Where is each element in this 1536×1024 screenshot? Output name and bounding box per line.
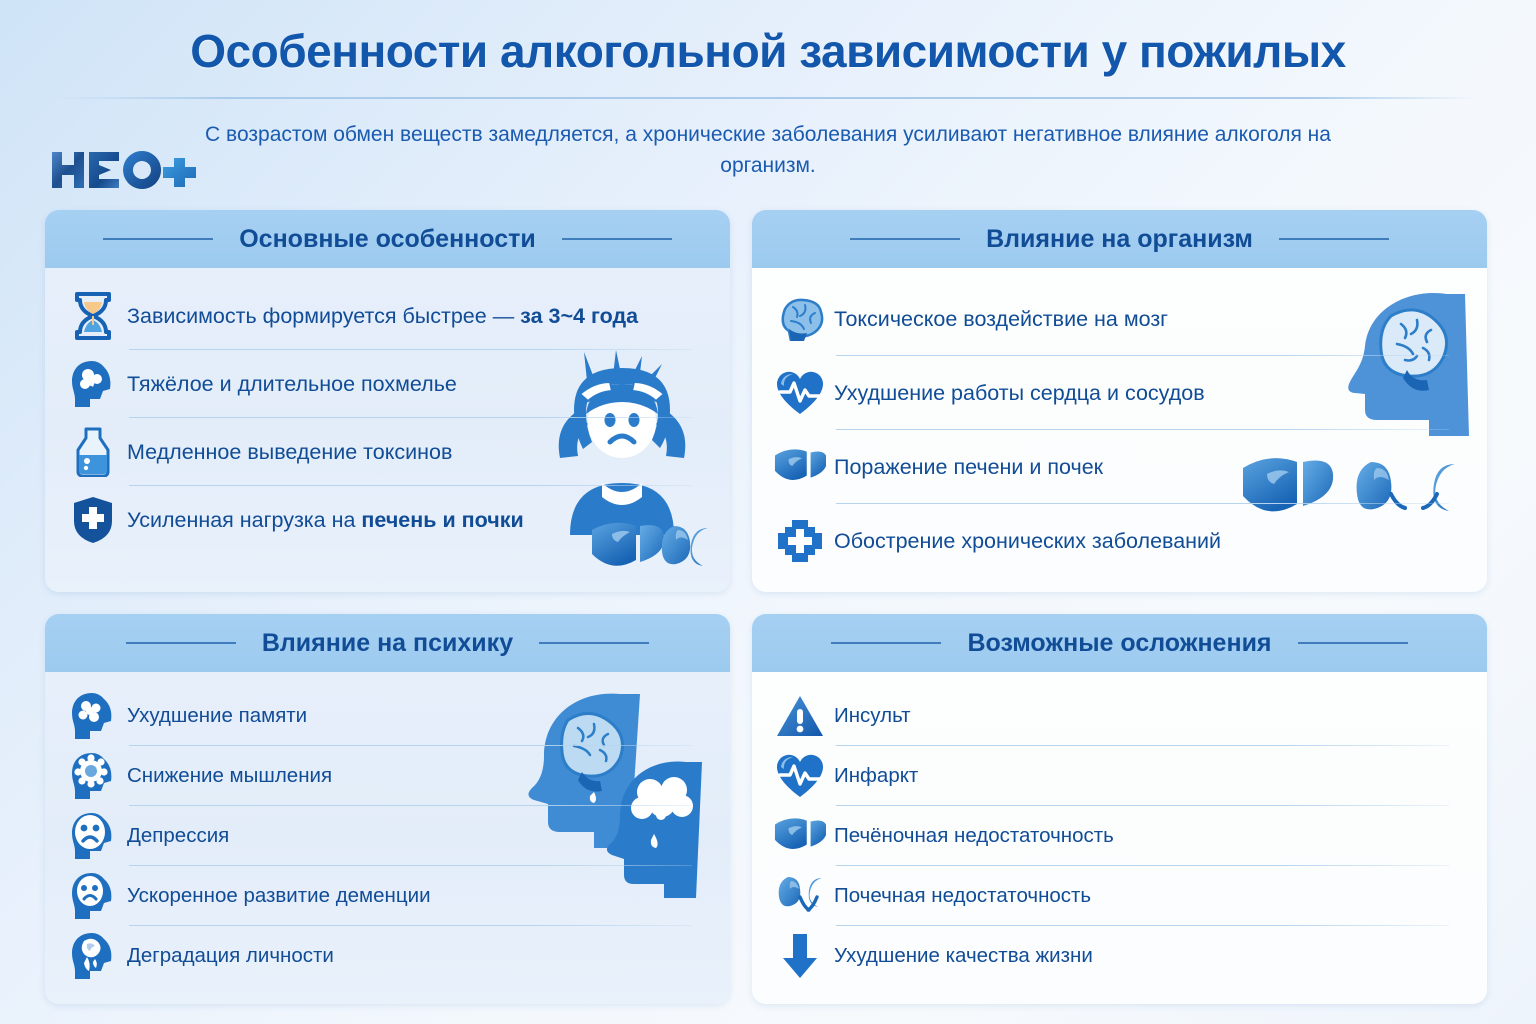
page-subtitle: С возрастом обмен веществ замедляется, а… [188, 119, 1348, 182]
card-vliyanie-na-organizm: Влияние на организм [752, 210, 1487, 592]
list-item-label: Печёночная недостаточность [834, 824, 1114, 848]
card-title: Влияние на психику [262, 629, 513, 658]
warning-triangle-icon [774, 690, 826, 742]
item-text: Ухудшение качества жизни [834, 944, 1093, 967]
card-body: Инсульт Инфаркт [752, 672, 1487, 1004]
cards-grid: Основные особенности [0, 208, 1536, 1024]
list-item-label: Ухудшение качества жизни [834, 944, 1093, 968]
list-item-label: Обострение хронических заболеваний [834, 529, 1221, 554]
list-item-label: Токсическое воздействие на мозг [834, 307, 1168, 332]
item-text: Инсульт [834, 704, 911, 727]
card-osnovnye-osobennosti: Основные особенности [45, 210, 730, 592]
list-item-label: Снижение мышления [127, 764, 332, 788]
item-text-bold: за 3~4 года [520, 304, 638, 328]
card-header: Влияние на организм [752, 210, 1487, 268]
page-title: Особенности алкогольной зависимости у по… [0, 26, 1536, 77]
list-item[interactable]: Почечная недостаточность [774, 866, 1465, 926]
card-items-list: Ухудшение памяти [67, 686, 708, 986]
page-header: Особенности алкогольной зависимости у по… [0, 0, 1536, 182]
cross-plus-icon [774, 515, 826, 567]
card-body: Ухудшение памяти [45, 672, 730, 1004]
list-item-label: Инсульт [834, 704, 911, 728]
hourglass-icon [67, 290, 119, 342]
item-text: Почечная недостаточность [834, 884, 1091, 907]
card-vliyanie-na-psihiku: Влияние на психику [45, 614, 730, 1004]
list-item[interactable]: Токсическое воздействие на мозг [774, 282, 1465, 356]
list-item[interactable]: Деградация личности [67, 926, 708, 986]
card-items-list: Инсульт Инфаркт [774, 686, 1465, 986]
list-item[interactable]: Усиленная нагрузка на печень и почки [67, 486, 708, 554]
item-text: Ухудшение работы сердца и сосудов [834, 381, 1205, 405]
list-item-label: Тяжёлое и длительное похмелье [127, 372, 457, 397]
list-item[interactable]: Инсульт [774, 686, 1465, 746]
kidney-icon [774, 870, 826, 922]
header-rule-right [539, 642, 649, 644]
item-text: Обострение хронических заболеваний [834, 529, 1221, 553]
list-item[interactable]: Печёночная недостаточность [774, 806, 1465, 866]
list-item[interactable]: Инфаркт [774, 746, 1465, 806]
heart-pulse-icon [774, 750, 826, 802]
card-title: Основные особенности [239, 225, 536, 254]
list-item-label: Усиленная нагрузка на печень и почки [127, 508, 524, 533]
list-item[interactable]: Депрессия [67, 806, 708, 866]
list-item[interactable]: Зависимость формируется быстрее — за 3~4… [67, 282, 708, 350]
item-text: Инфаркт [834, 764, 918, 787]
list-item-label: Почечная недостаточность [834, 884, 1091, 908]
card-items-list: Зависимость формируется быстрее — за 3~4… [67, 282, 708, 554]
item-text-bold: печень и почки [361, 508, 523, 532]
header-rule-right [562, 238, 672, 240]
item-text: Токсическое воздействие на мозг [834, 307, 1168, 331]
title-divider [58, 97, 1478, 99]
list-item[interactable]: Тяжёлое и длительное похмелье [67, 350, 708, 418]
header-rule-left [126, 642, 236, 644]
header-rule-left [850, 238, 960, 240]
card-vozmozhnye-oslozhneniya: Возможные осложнения [752, 614, 1487, 1004]
list-item-label: Медленное выведение токсинов [127, 440, 452, 465]
card-items-list: Токсическое воздействие на мозг Ухудшени… [774, 282, 1465, 578]
list-item-label: Инфаркт [834, 764, 918, 788]
heart-pulse-icon [774, 367, 826, 419]
liver-icon [774, 441, 826, 493]
card-title: Влияние на организм [986, 225, 1253, 254]
shield-cross-icon [67, 494, 119, 546]
head-degrade-icon [67, 930, 119, 982]
item-text: Ускоренное развитие деменции [127, 884, 431, 907]
item-text: Медленное выведение токсинов [127, 440, 452, 464]
head-gear-icon [67, 750, 119, 802]
item-text: Деградация личности [127, 944, 334, 967]
list-item-label: Ухудшение работы сердца и сосудов [834, 381, 1205, 406]
card-header: Основные особенности [45, 210, 730, 268]
item-text: Зависимость формируется быстрее — [127, 304, 520, 328]
header-rule-left [103, 238, 213, 240]
item-text: Печёночная недостаточность [834, 824, 1114, 847]
list-item[interactable]: Ухудшение работы сердца и сосудов [774, 356, 1465, 430]
list-item[interactable]: Медленное выведение токсинов [67, 418, 708, 486]
card-header: Возможные осложнения [752, 614, 1487, 672]
list-item[interactable]: Ухудшение памяти [67, 686, 708, 746]
list-item[interactable]: Ухудшение качества жизни [774, 926, 1465, 986]
card-title: Возможные осложнения [967, 629, 1271, 658]
down-arrow-icon [774, 930, 826, 982]
list-item-label: Зависимость формируется быстрее — за 3~4… [127, 304, 638, 329]
item-text: Поражение печени и почек [834, 455, 1103, 479]
list-item[interactable]: Поражение печени и почек [774, 430, 1465, 504]
header-rule-left [831, 642, 941, 644]
head-sad-icon [67, 810, 119, 862]
brain-icon [774, 293, 826, 345]
item-text: Депрессия [127, 824, 229, 847]
item-text: Усиленная нагрузка на [127, 508, 361, 532]
list-item[interactable]: Снижение мышления [67, 746, 708, 806]
card-body: Зависимость формируется быстрее — за 3~4… [45, 268, 730, 592]
brand-logo [48, 146, 198, 194]
list-item[interactable]: Обострение хронических заболеваний [774, 504, 1465, 578]
item-text: Ухудшение памяти [127, 704, 307, 727]
flask-icon [67, 426, 119, 478]
card-body: Токсическое воздействие на мозг Ухудшени… [752, 268, 1487, 592]
head-memory-icon [67, 690, 119, 742]
list-item[interactable]: Ускоренное развитие деменции [67, 866, 708, 926]
list-item-label: Деградация личности [127, 944, 334, 968]
list-item-label: Депрессия [127, 824, 229, 848]
head-fading-icon [67, 870, 119, 922]
list-item-label: Ухудшение памяти [127, 704, 307, 728]
list-item-label: Ускоренное развитие деменции [127, 884, 431, 908]
neo-plus-logo-icon [48, 146, 198, 194]
liver-icon [774, 810, 826, 862]
item-text: Снижение мышления [127, 764, 332, 787]
list-item-label: Поражение печени и почек [834, 455, 1103, 480]
item-text: Тяжёлое и длительное похмелье [127, 372, 457, 396]
head-brain-icon [67, 358, 119, 410]
header-rule-right [1298, 642, 1408, 644]
card-header: Влияние на психику [45, 614, 730, 672]
header-rule-right [1279, 238, 1389, 240]
